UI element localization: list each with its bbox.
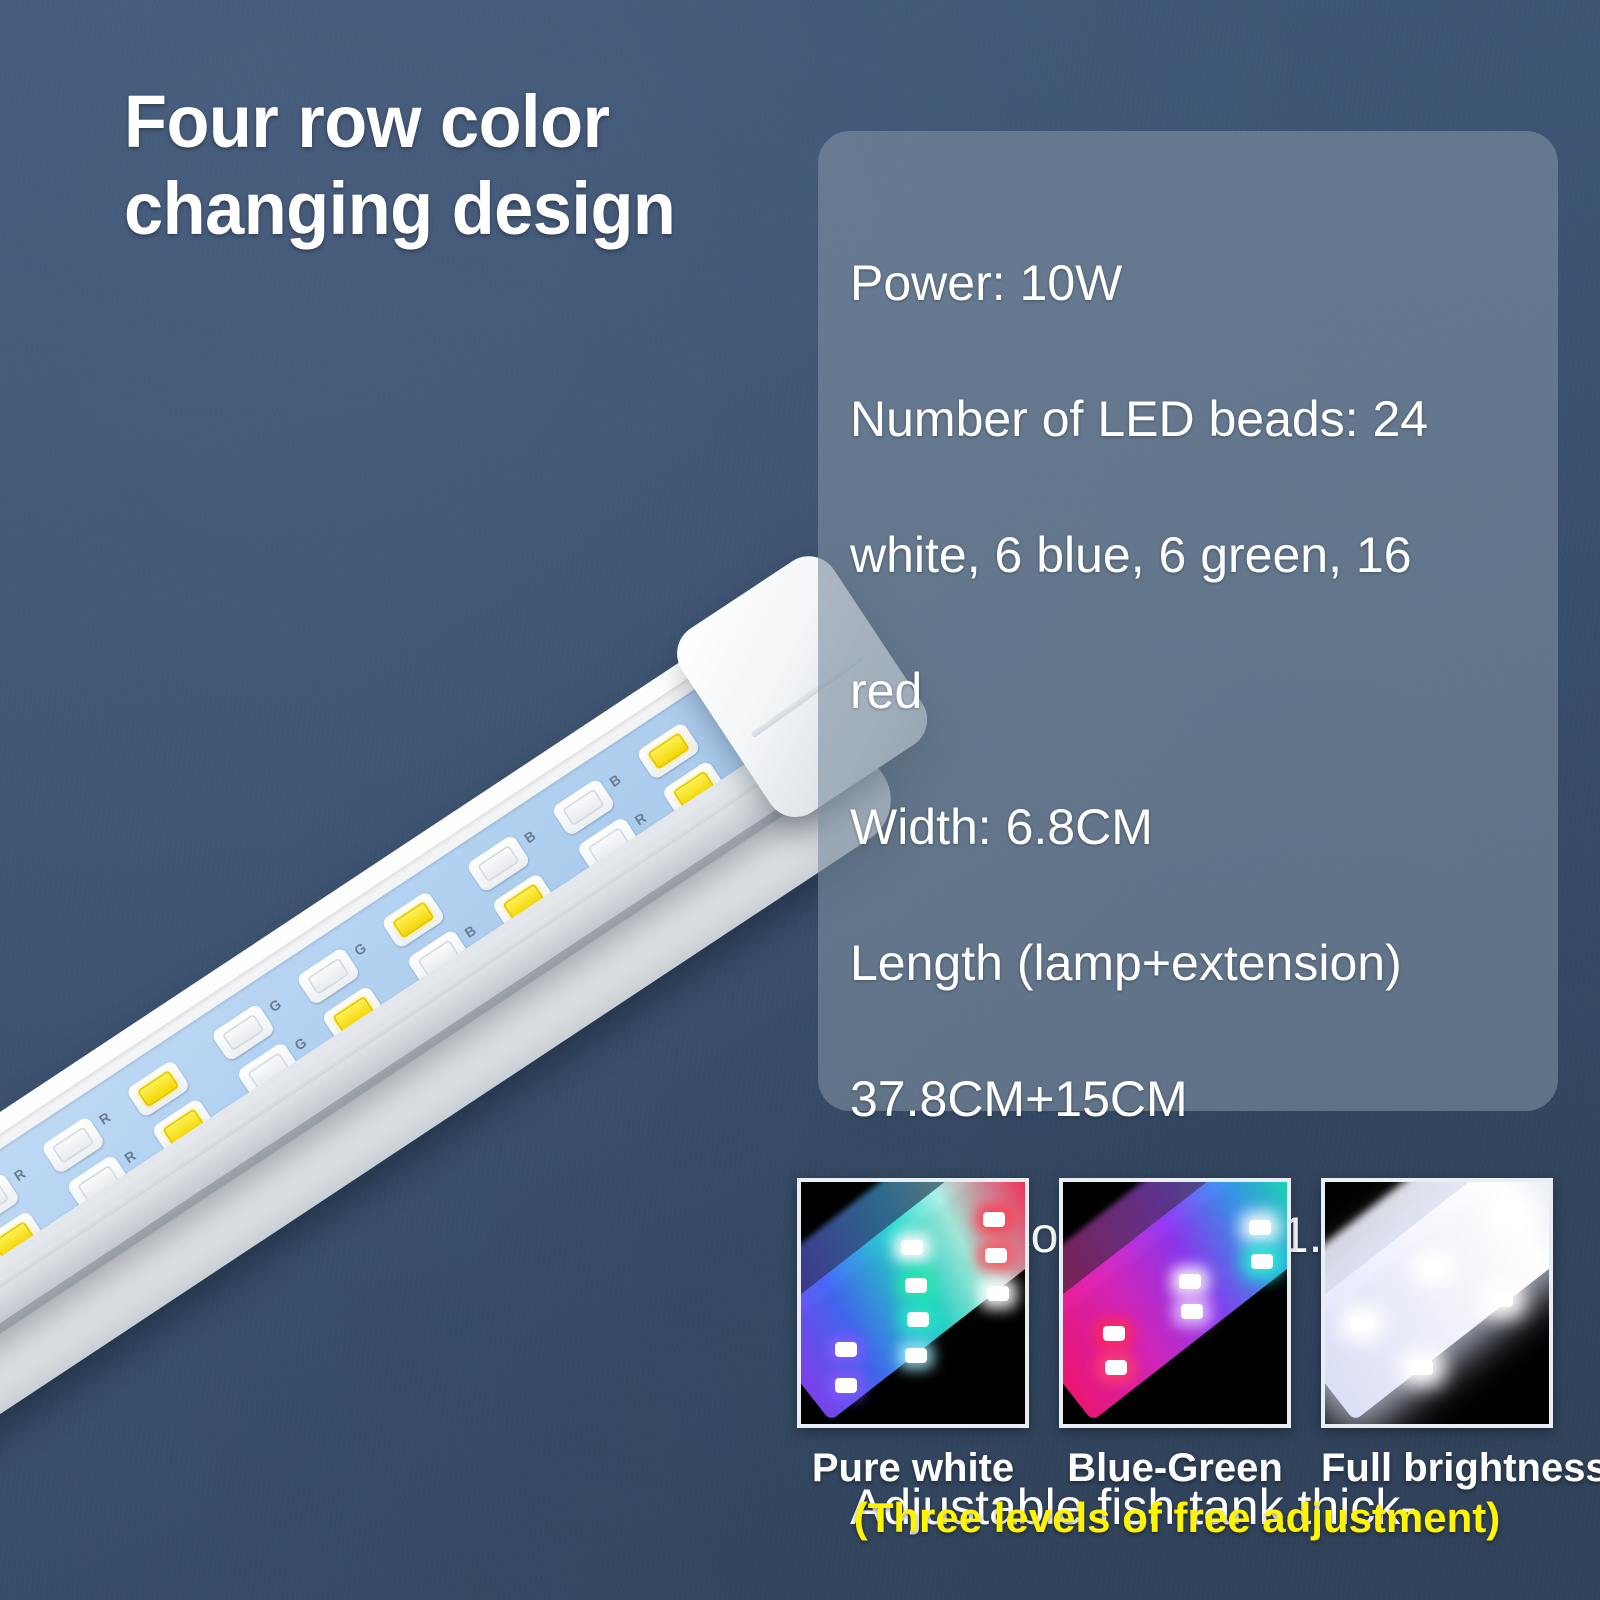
thumbnail-image-pure-white[interactable] — [797, 1178, 1029, 1428]
thumbnail-image-full-brightness[interactable] — [1321, 1178, 1553, 1428]
spec-line-led-colors: white, 6 blue, 6 green, 16 — [850, 521, 1540, 589]
led-label: B — [462, 922, 479, 941]
led-label: R — [121, 1147, 138, 1166]
specification-panel: Power: 10W Number of LED beads: 24 white… — [818, 131, 1558, 1111]
thumbnail-image-blue-green[interactable] — [1059, 1178, 1291, 1428]
lamp-led-panel: R R G G B B R — [0, 683, 754, 1341]
led-label: B — [521, 827, 538, 846]
spec-line-length-label: Length (lamp+extension) — [850, 929, 1540, 997]
led-label: R — [11, 1165, 28, 1184]
page-title: Four row color changing design — [124, 78, 770, 253]
spec-line-power: Power: 10W — [850, 249, 1540, 317]
led-label: R — [632, 809, 649, 828]
led-label: G — [291, 1034, 309, 1053]
thumbnail-item[interactable]: Full brightness — [1321, 1178, 1553, 1428]
thumbnail-caption: Pure white — [797, 1446, 1029, 1491]
thumbnail-caption: Blue-Green — [1059, 1446, 1291, 1491]
spec-line-width: Width: 6.8CM — [850, 793, 1540, 861]
spec-line-led-colors-2: red — [850, 657, 1540, 725]
thumbnail-item[interactable]: Blue-Green — [1059, 1178, 1291, 1428]
led-label: G — [351, 940, 369, 959]
footer-note: (Three levels of free adjustment) — [797, 1494, 1557, 1542]
led-label: B — [606, 771, 623, 790]
spec-line-led-count: Number of LED beads: 24 — [850, 385, 1540, 453]
thumbnail-item[interactable]: Pure white — [797, 1178, 1029, 1428]
thumbnail-caption: Full brightness — [1321, 1446, 1553, 1491]
spec-line-length-value: 37.8CM+15CM — [850, 1065, 1540, 1133]
led-label: G — [266, 996, 284, 1015]
lighting-mode-thumbnails: Pure white Blue-Green — [797, 1178, 1553, 1428]
led-label: R — [96, 1109, 113, 1128]
